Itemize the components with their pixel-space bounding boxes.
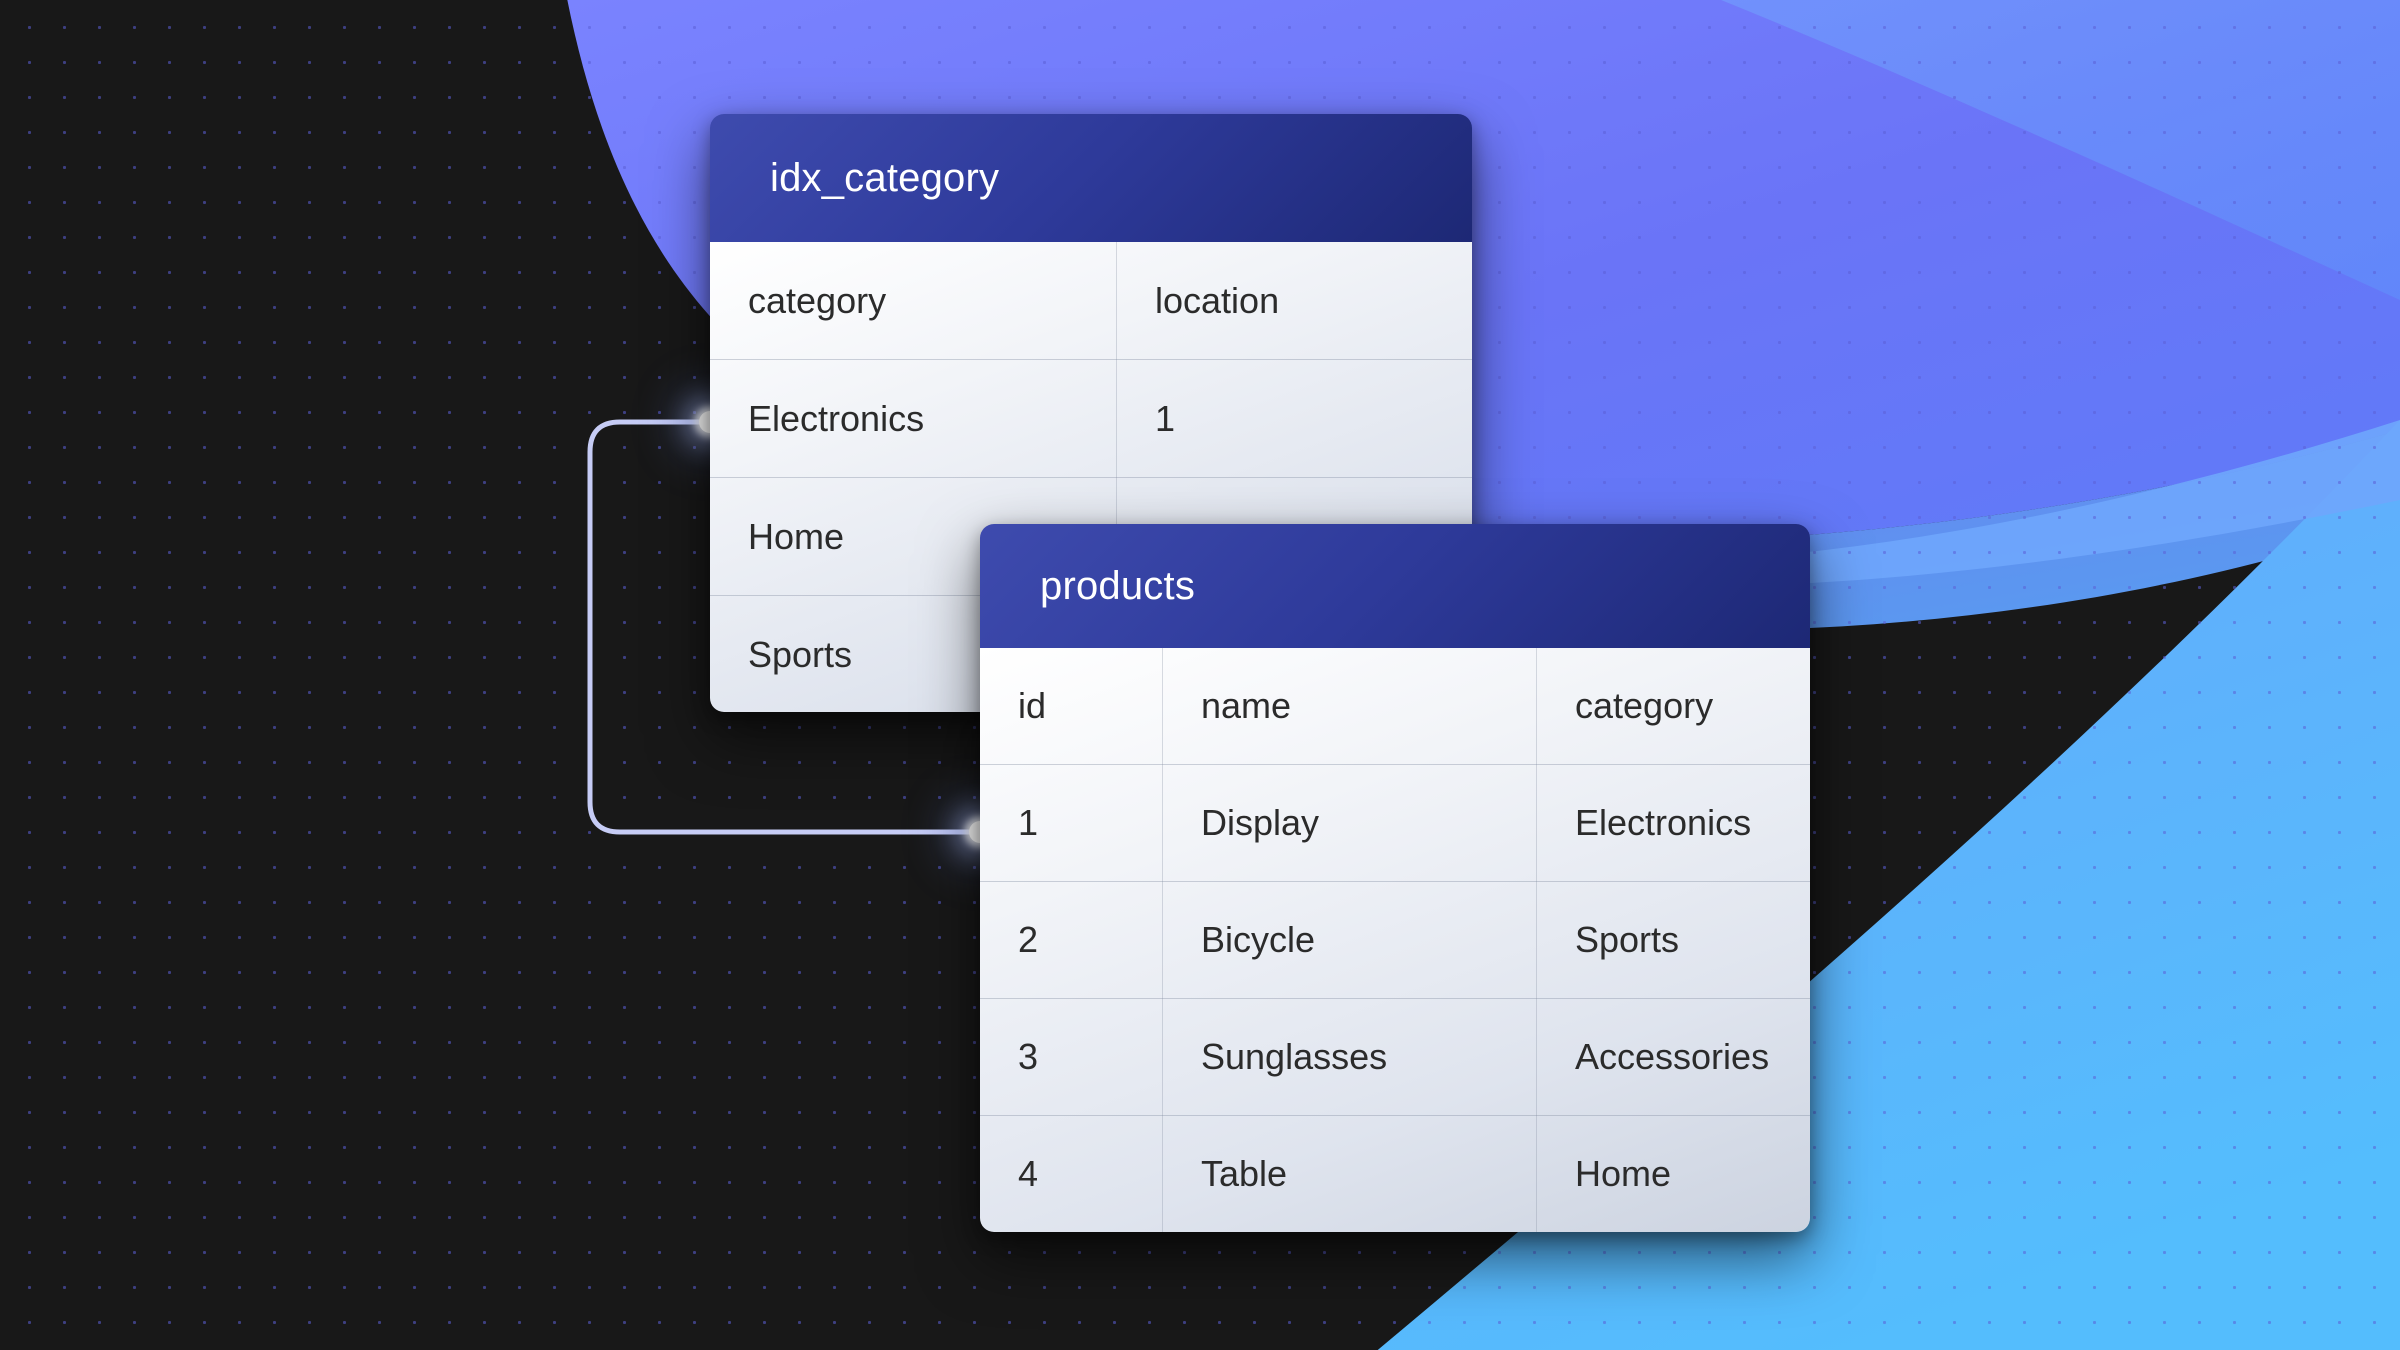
column-header-name: name (1163, 648, 1537, 765)
table-grid: id name category 1 Display Electronics 2… (980, 648, 1810, 1232)
cell-category: Sports (1537, 882, 1811, 999)
table-title: products (1040, 564, 1195, 609)
table-row[interactable]: 1 Display Electronics (980, 765, 1810, 882)
table-row[interactable]: 3 Sunglasses Accessories (980, 999, 1810, 1116)
table-row[interactable]: Electronics 1 (710, 360, 1472, 478)
cell-category: Home (1537, 1116, 1811, 1233)
cell-name: Sunglasses (1163, 999, 1537, 1116)
cell-location: 1 (1117, 360, 1473, 478)
cell-name: Display (1163, 765, 1537, 882)
cell-category: Electronics (1537, 765, 1811, 882)
table-card-products[interactable]: products id name category 1 Display Elec… (980, 524, 1810, 1232)
column-header-id: id (980, 648, 1163, 765)
cell-id: 4 (980, 1116, 1163, 1233)
table-card-header: products (980, 524, 1810, 648)
table-card-header: idx_category (710, 114, 1472, 242)
table-header-row: id name category (980, 648, 1810, 765)
table-title: idx_category (770, 156, 999, 201)
table-row[interactable]: 2 Bicycle Sports (980, 882, 1810, 999)
cell-id: 1 (980, 765, 1163, 882)
cell-id: 2 (980, 882, 1163, 999)
cell-id: 3 (980, 999, 1163, 1116)
column-header-category: category (710, 242, 1117, 360)
cell-name: Bicycle (1163, 882, 1537, 999)
cell-name: Table (1163, 1116, 1537, 1233)
column-header-location: location (1117, 242, 1473, 360)
table-header-row: category location (710, 242, 1472, 360)
canvas: idx_category category location Electroni… (0, 0, 2400, 1350)
column-header-category: category (1537, 648, 1811, 765)
cell-category: Electronics (710, 360, 1117, 478)
table-row[interactable]: 4 Table Home (980, 1116, 1810, 1233)
cell-category: Accessories (1537, 999, 1811, 1116)
